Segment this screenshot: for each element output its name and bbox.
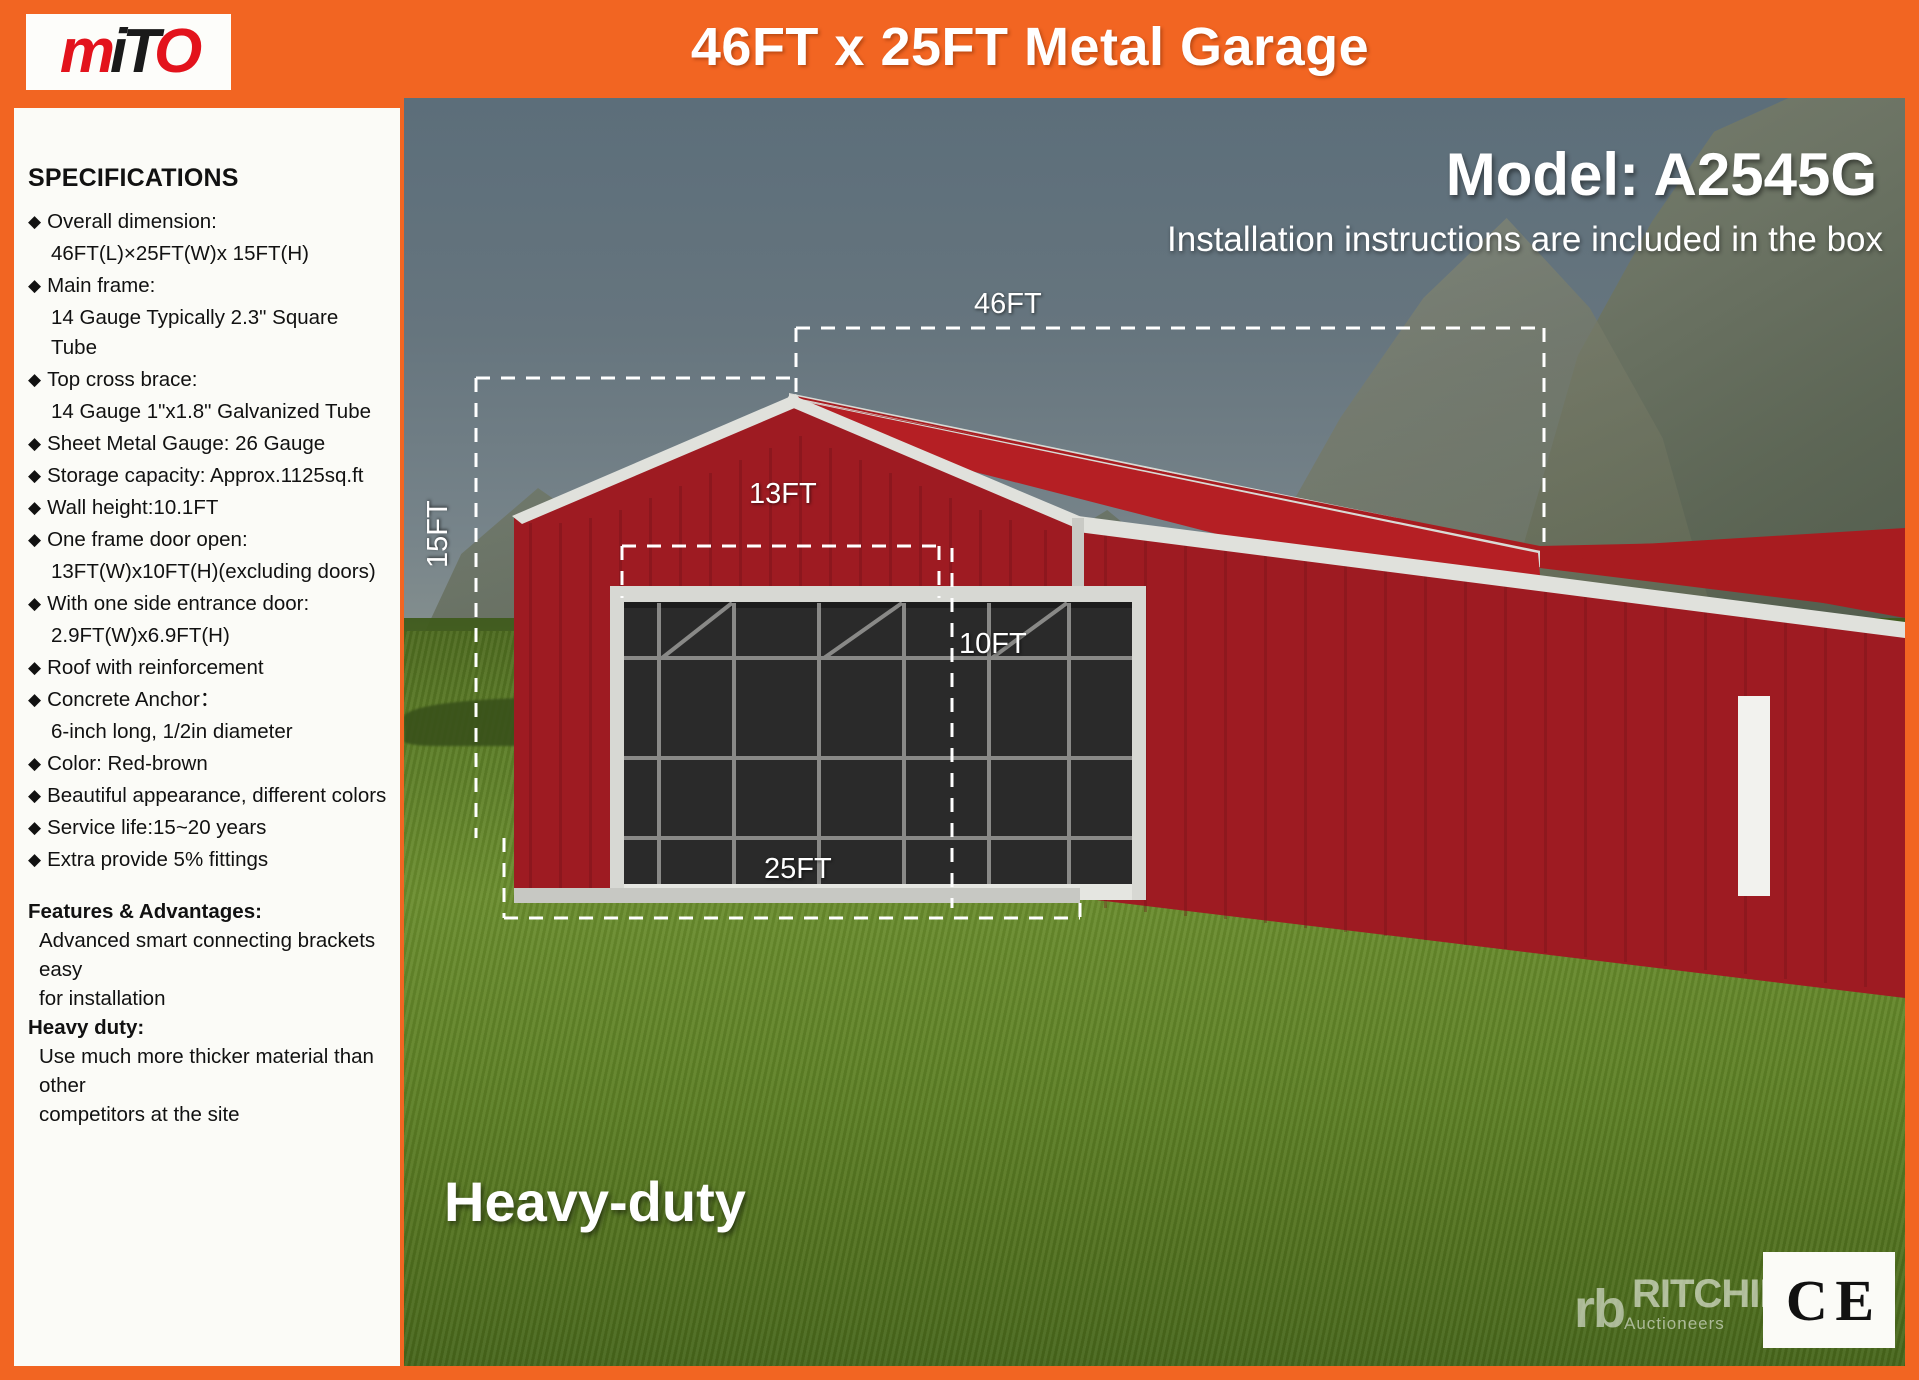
spec-item-label: Overall dimension:: [47, 207, 217, 237]
spec-item: ◆Extra provide 5% fittings: [28, 845, 388, 875]
spec-item: ◆Roof with reinforcement: [28, 653, 388, 683]
specifications-list: ◆Overall dimension:46FT(L)×25FT(W)x 15FT…: [28, 207, 388, 875]
dimension-label-width: 25FT: [764, 853, 832, 886]
spec-item: ◆Service life:15~20 years: [28, 813, 388, 843]
specifications-panel: SPECIFICATIONS ◆Overall dimension:46FT(L…: [14, 108, 400, 1366]
spec-item: ◆Color: Red-brown: [28, 749, 388, 779]
spec-item-detail: 6-inch long, 1/2in diameter: [28, 717, 388, 747]
dimension-label-door-height: 10FT: [959, 628, 1027, 661]
dimension-label-length: 46FT: [974, 288, 1042, 321]
dimension-label-door-width: 13FT: [749, 478, 817, 511]
spec-item-label: One frame door open:: [47, 525, 248, 555]
dimension-label-height: 15FT: [422, 500, 455, 568]
spec-item-label: Roof with reinforcement: [47, 653, 263, 683]
door-opening-interior: [619, 598, 1139, 898]
ce-mark-badge: C E: [1763, 1252, 1895, 1348]
spec-item-label: Color: Red-brown: [47, 749, 208, 779]
features-line-2: for installation: [28, 984, 388, 1013]
spec-item-label: Sheet Metal Gauge: 26 Gauge: [47, 429, 325, 459]
spec-item-label: Main frame:: [47, 271, 155, 301]
installation-note: Installation instructions are included i…: [1167, 220, 1883, 260]
spec-item-label: With one side entrance door:: [47, 589, 309, 619]
diamond-bullet-icon: ◆: [28, 749, 41, 779]
diamond-bullet-icon: ◆: [28, 365, 41, 395]
spec-item: ◆Beautiful appearance, different colors: [28, 781, 388, 811]
diamond-bullet-icon: ◆: [28, 813, 41, 843]
spec-item-detail: 13FT(W)x10FT(H)(excluding doors): [28, 557, 388, 587]
spec-item-detail: 46FT(L)×25FT(W)x 15FT(H): [28, 239, 388, 269]
brand-logo-text: miTO: [60, 21, 197, 83]
spec-item: ◆Sheet Metal Gauge: 26 Gauge: [28, 429, 388, 459]
header-bar: miTO 46FT x 25FT Metal Garage: [0, 0, 1919, 108]
front-base-trim: [514, 888, 1080, 903]
diamond-bullet-icon: ◆: [28, 493, 41, 523]
model-label: Model: A2545G: [1446, 140, 1877, 209]
diamond-bullet-icon: ◆: [28, 461, 41, 491]
spec-item: ◆With one side entrance door:: [28, 589, 388, 619]
spec-item-detail: 14 Gauge 1ʺx1.8ʺ Galvanized Tube: [28, 397, 388, 427]
diamond-bullet-icon: ◆: [28, 685, 41, 715]
features-advantages-block: Features & Advantages: Advanced smart co…: [28, 897, 388, 1129]
diamond-bullet-icon: ◆: [28, 781, 41, 811]
diamond-bullet-icon: ◆: [28, 525, 41, 555]
spec-item: ◆Top cross brace:: [28, 365, 388, 395]
spec-item-label: Wall height:10.1FT: [47, 493, 218, 523]
spec-item-label: Extra provide 5% fittings: [47, 845, 268, 875]
flyer-root: miTO 46FT x 25FT Metal Garage SPECIFICAT…: [0, 0, 1919, 1380]
heavy-duty-line-1: Use much more thicker material than othe…: [28, 1042, 388, 1100]
spec-item: ◆Wall height:10.1FT: [28, 493, 388, 523]
spec-item-label: Concrete Anchor：: [47, 685, 220, 715]
spec-item-label: Storage capacity: Approx.1125sq.ft: [47, 461, 363, 491]
diamond-bullet-icon: ◆: [28, 845, 41, 875]
diamond-bullet-icon: ◆: [28, 589, 41, 619]
door-jamb-left: [610, 586, 624, 900]
diamond-bullet-icon: ◆: [28, 429, 41, 459]
heavy-duty-tagline: Heavy-duty: [444, 1169, 746, 1234]
spec-item: ◆Main frame:: [28, 271, 388, 301]
spec-item-label: Top cross brace:: [47, 365, 197, 395]
page-title: 46FT x 25FT Metal Garage: [420, 16, 1640, 78]
product-photo-panel: 46FT 13FT 10FT 25FT 15FT Model: A2545G I…: [404, 98, 1905, 1366]
features-heading: Features & Advantages:: [28, 897, 388, 926]
heavy-duty-heading: Heavy duty:: [28, 1013, 388, 1042]
ce-mark-text: C E: [1786, 1267, 1872, 1334]
spec-item: ◆Overall dimension:: [28, 207, 388, 237]
brand-logo: miTO: [26, 14, 231, 90]
spec-item-detail: 14 Gauge Typically 2.3ʺ Square Tube: [28, 303, 388, 363]
door-header-trim: [612, 586, 1146, 602]
spec-item-label: Beautiful appearance, different colors: [47, 781, 386, 811]
spec-item: ◆Concrete Anchor：: [28, 685, 388, 715]
spec-item-detail: 2.9FT(W)x6.9FT(H): [28, 621, 388, 651]
door-jamb-right: [1132, 586, 1146, 900]
diamond-bullet-icon: ◆: [28, 207, 41, 237]
side-entrance-door: [1738, 696, 1770, 896]
diamond-bullet-icon: ◆: [28, 271, 41, 301]
features-line-1: Advanced smart connecting brackets easy: [28, 926, 388, 984]
spec-item-label: Service life:15~20 years: [47, 813, 266, 843]
spec-item: ◆Storage capacity: Approx.1125sq.ft: [28, 461, 388, 491]
spec-item: ◆One frame door open:: [28, 525, 388, 555]
heavy-duty-line-2: competitors at the site: [28, 1100, 388, 1129]
diamond-bullet-icon: ◆: [28, 653, 41, 683]
specifications-heading: SPECIFICATIONS: [28, 164, 388, 193]
